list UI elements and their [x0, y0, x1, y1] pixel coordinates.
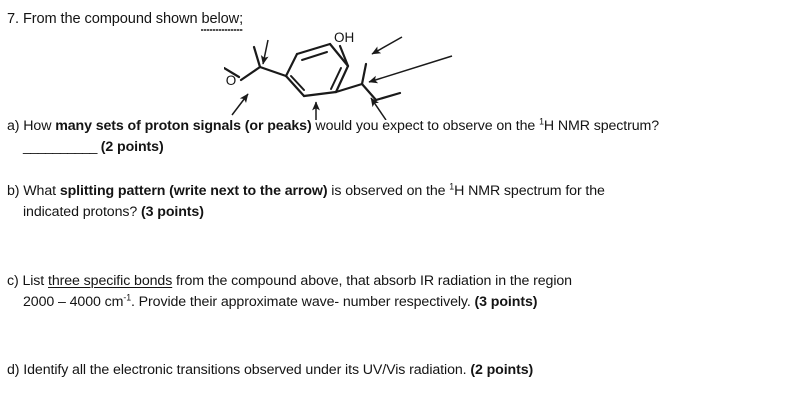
chemical-structure-diagram: OH O: [224, 22, 456, 120]
question-part-d: d) Identify all the electronic transitio…: [7, 360, 777, 381]
part-b-text-mid: is observed on the: [327, 183, 449, 199]
arrow-secbutyl-ch3: [372, 37, 402, 54]
part-b-text-post: H NMR spectrum for the: [454, 183, 605, 199]
question-number: 7.: [7, 11, 19, 27]
question-part-a: a) How many sets of proton signals (or p…: [7, 116, 787, 158]
atom-label-o: O: [226, 73, 237, 88]
bond-methine-methyl-left: [254, 47, 260, 67]
atom-label-oh: OH: [334, 30, 354, 45]
part-c-line2: 2000 – 4000 cm-1. Provide their approxim…: [7, 292, 777, 313]
arrow-ether-ch: [263, 40, 268, 64]
part-b-points: (3 points): [141, 204, 204, 220]
part-a-marker: a): [7, 118, 19, 134]
question-part-b: b) What splitting pattern (write next to…: [7, 181, 767, 223]
bond-methine-methyl-right: [362, 64, 366, 84]
question-heading: 7. From the compound shown below;: [7, 9, 243, 30]
ring-bond-6: [286, 54, 297, 76]
bond-methine-oxygen: [241, 67, 260, 80]
part-b-text-pre: What: [23, 183, 60, 199]
part-a-emphasis: many sets of proton signals (or peaks): [55, 118, 311, 134]
heading-text: From the compound shown: [23, 11, 202, 27]
ring-double-1: [302, 52, 327, 60]
arrow-methoxy: [232, 94, 248, 115]
part-b-emphasis: splitting pattern (write next to the arr…: [60, 183, 328, 199]
part-d-marker: d): [7, 362, 19, 378]
bond-ring-to-methine-left: [260, 67, 286, 76]
part-a-text-mid: would you expect to observe on the: [312, 118, 540, 134]
part-d-points: (2 points): [470, 362, 533, 378]
part-a-text-post: H NMR spectrum?: [544, 118, 659, 134]
part-c-superscript: -1: [123, 292, 131, 302]
part-b-line2-text: indicated protons?: [23, 204, 141, 220]
part-a-answer-row: __________ (2 points): [7, 137, 787, 158]
part-a-answer-blank[interactable]: __________: [23, 139, 97, 155]
part-c-text-pre: List: [22, 273, 48, 289]
arrow-secbutyl-ch: [369, 56, 452, 82]
bond-methine-ch2: [362, 84, 376, 100]
bond-ch2-methyl: [376, 93, 400, 100]
part-c-wavenumber-range: 2000 – 4000 cm: [23, 294, 123, 310]
part-c-marker: c): [7, 273, 19, 289]
part-c-text-post: from the compound above, that absorb IR …: [172, 273, 572, 289]
part-c-underlined-phrase: three specific bonds: [48, 273, 172, 289]
part-b-marker: b): [7, 183, 19, 199]
ring-bond-2: [330, 44, 348, 66]
part-c-line2-text: . Provide their approximate wave- number…: [131, 294, 475, 310]
ring-bond-4: [304, 92, 336, 96]
part-b-line2: indicated protons? (3 points): [7, 202, 767, 223]
question-part-c: c) List three specific bonds from the co…: [7, 271, 777, 313]
part-a-text-pre: How: [23, 118, 55, 134]
part-c-points: (3 points): [475, 294, 538, 310]
document-page: 7. From the compound shown below;: [0, 0, 796, 400]
part-a-points: (2 points): [101, 139, 164, 155]
part-d-text: Identify all the electronic transitions …: [23, 362, 470, 378]
